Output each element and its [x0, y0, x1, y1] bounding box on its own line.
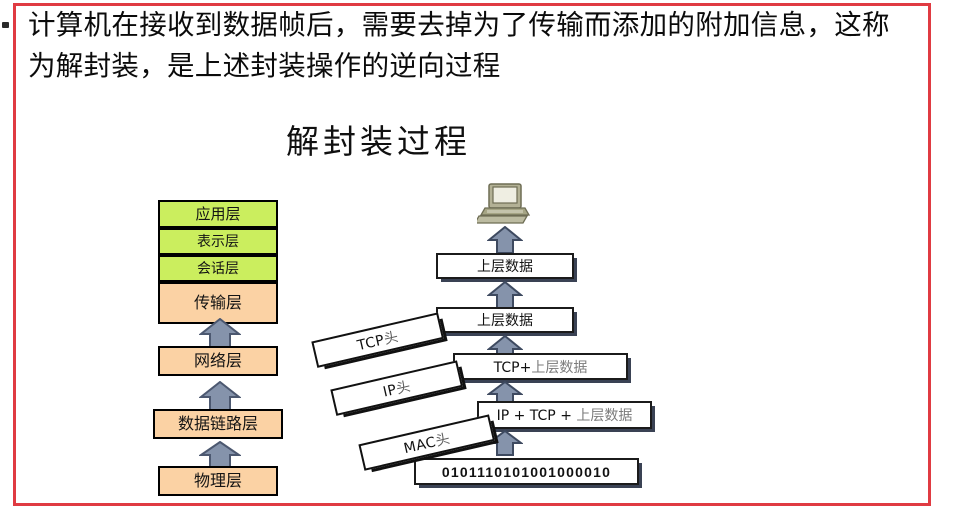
- pdu-box-label: 上层数据: [477, 256, 533, 276]
- pdu-box-upper-data-second[interactable]: 上层数据: [436, 307, 574, 333]
- osi-layer-label: 数据链路层: [178, 416, 258, 432]
- osi-layer-label: 物理层: [194, 473, 242, 489]
- pdu-box-bit-stream[interactable]: 0101110101001000010: [414, 458, 639, 485]
- header-strip-label-latin: TCP: [356, 332, 386, 354]
- osi-layer-label: 网络层: [194, 353, 242, 369]
- arrow-physical-to-datalink: [199, 441, 241, 469]
- computer-icon: [477, 182, 533, 226]
- pdu-box-label-cjk: 上层数据: [576, 408, 632, 424]
- osi-layer-physical[interactable]: 物理层: [158, 466, 278, 496]
- header-strip-label-latin: MAC: [402, 434, 437, 457]
- pdu-box-label: TCP+上层数据: [494, 357, 588, 377]
- pdu-box-upper-data-top[interactable]: 上层数据: [436, 253, 574, 279]
- header-strip-label: IP头: [381, 375, 413, 401]
- header-strip-label-cjk: 头: [382, 329, 400, 348]
- arrow-to-computer: [487, 226, 523, 254]
- osi-layer-label: 表示层: [197, 235, 239, 249]
- osi-layer-session[interactable]: 会话层: [158, 255, 278, 282]
- intro-paragraph: 计算机在接收到数据帧后，需要去掉为了传输而添加的附加信息，这称为解封装，是上述封…: [28, 5, 908, 87]
- header-strip-tcp[interactable]: TCP头: [311, 312, 444, 368]
- header-strip-label: MAC头: [401, 428, 451, 458]
- pdu-box-label: 上层数据: [477, 310, 533, 330]
- osi-layer-network[interactable]: 网络层: [158, 346, 278, 376]
- header-strip-label-cjk: 头: [395, 378, 413, 397]
- pdu-box-label-latin: IP + TCP +: [497, 408, 577, 424]
- pdu-box-ip-packet[interactable]: IP + TCP + 上层数据: [477, 401, 652, 429]
- osi-layer-application[interactable]: 应用层: [158, 200, 278, 228]
- header-strip-ip[interactable]: IP头: [330, 360, 463, 416]
- pdu-box-label-cjk: 上层数据: [531, 360, 587, 376]
- osi-layer-datalink[interactable]: 数据链路层: [153, 409, 283, 439]
- osi-layer-label: 会话层: [197, 262, 239, 276]
- pdu-box-label: IP + TCP + 上层数据: [497, 405, 633, 425]
- bullet-marker-icon: [2, 22, 9, 28]
- page-title: 解封装过程: [286, 121, 471, 163]
- osi-layer-presentation[interactable]: 表示层: [158, 228, 278, 255]
- header-strip-label-cjk: 头: [434, 430, 452, 449]
- pdu-box-label: 0101110101001000010: [442, 464, 611, 480]
- pdu-box-tcp-segment[interactable]: TCP+上层数据: [453, 353, 628, 380]
- osi-layer-label: 传输层: [194, 295, 242, 311]
- osi-layer-label: 应用层: [195, 207, 240, 222]
- header-strip-label: TCP头: [355, 326, 400, 355]
- pdu-box-label-latin: TCP+: [494, 360, 532, 376]
- arrow-upper-to-upper: [487, 281, 523, 309]
- slide-canvas: 计算机在接收到数据帧后，需要去掉为了传输而添加的附加信息，这称为解封装，是上述封…: [0, 0, 954, 514]
